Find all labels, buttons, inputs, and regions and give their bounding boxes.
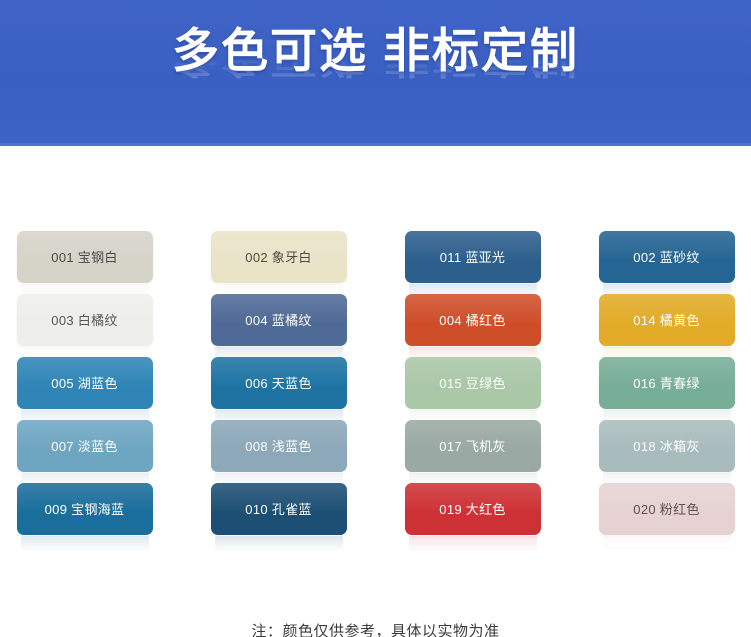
swatch-cell: 008 浅蓝色 (211, 420, 347, 472)
swatch-cell: 016 青春绿 (599, 357, 735, 409)
color-swatch-016-青春绿[interactable]: 016 青春绿 (599, 357, 735, 409)
swatch-cell: 019 大红色 (405, 483, 541, 535)
swatch-label: 016 青春绿 (633, 377, 699, 390)
swatch-cell: 015 豆绿色 (405, 357, 541, 409)
swatch-reflection (21, 536, 149, 552)
swatch-label: 020 粉红色 (633, 503, 699, 516)
swatch-cell: 020 粉红色 (599, 483, 735, 535)
color-swatch-grid: 001 宝钢白002 象牙白011 蓝亚光002 蓝砂纹003 白橘纹004 蓝… (0, 231, 751, 535)
swatch-cell: 011 蓝亚光 (405, 231, 541, 283)
color-swatch-019-大红色[interactable]: 019 大红色 (405, 483, 541, 535)
swatch-cell: 006 天蓝色 (211, 357, 347, 409)
swatch-label: 006 天蓝色 (245, 377, 311, 390)
swatch-label: 004 蓝橘纹 (245, 314, 311, 327)
color-swatch-004-橘红色[interactable]: 004 橘红色 (405, 294, 541, 346)
footer-note: 注：颜色仅供参考，具体以实物为准 (0, 620, 751, 637)
swatch-cell: 004 蓝橘纹 (211, 294, 347, 346)
header-banner: 多色可选 非标定制 多色可选 非标定制 (0, 0, 751, 146)
swatch-reflection (215, 536, 343, 552)
color-swatch-001-宝钢白[interactable]: 001 宝钢白 (17, 231, 153, 283)
swatch-label: 014 橘黄色 (633, 314, 699, 327)
color-swatch-003-白橘纹[interactable]: 003 白橘纹 (17, 294, 153, 346)
color-swatch-008-浅蓝色[interactable]: 008 浅蓝色 (211, 420, 347, 472)
color-swatch-014-橘黄色[interactable]: 014 橘黄色 (599, 294, 735, 346)
color-swatch-015-豆绿色[interactable]: 015 豆绿色 (405, 357, 541, 409)
color-swatch-018-冰箱灰[interactable]: 018 冰箱灰 (599, 420, 735, 472)
color-swatch-005-湖蓝色[interactable]: 005 湖蓝色 (17, 357, 153, 409)
swatch-cell: 017 飞机灰 (405, 420, 541, 472)
color-swatch-006-天蓝色[interactable]: 006 天蓝色 (211, 357, 347, 409)
swatch-label: 010 孔雀蓝 (245, 503, 311, 516)
swatch-label: 019 大红色 (439, 503, 505, 516)
swatch-label: 009 宝钢海蓝 (45, 503, 125, 516)
color-swatch-002-象牙白[interactable]: 002 象牙白 (211, 231, 347, 283)
color-swatch-009-宝钢海蓝[interactable]: 009 宝钢海蓝 (17, 483, 153, 535)
swatch-label: 002 象牙白 (245, 251, 311, 264)
swatch-cell: 018 冰箱灰 (599, 420, 735, 472)
swatch-label: 003 白橘纹 (51, 314, 117, 327)
color-options-page: 多色可选 非标定制 多色可选 非标定制 001 宝钢白002 象牙白011 蓝亚… (0, 0, 751, 637)
swatch-cell: 003 白橘纹 (17, 294, 153, 346)
color-swatch-020-粉红色[interactable]: 020 粉红色 (599, 483, 735, 535)
page-title: 多色可选 非标定制 (172, 26, 579, 77)
color-swatch-002-蓝砂纹[interactable]: 002 蓝砂纹 (599, 231, 735, 283)
swatch-cell: 001 宝钢白 (17, 231, 153, 283)
swatch-cell: 007 淡蓝色 (17, 420, 153, 472)
swatch-reflection (409, 536, 537, 552)
swatch-label: 007 淡蓝色 (51, 440, 117, 453)
swatch-label: 005 湖蓝色 (51, 377, 117, 390)
swatch-cell: 014 橘黄色 (599, 294, 735, 346)
swatch-label: 008 浅蓝色 (245, 440, 311, 453)
swatch-cell: 002 象牙白 (211, 231, 347, 283)
color-swatch-004-蓝橘纹[interactable]: 004 蓝橘纹 (211, 294, 347, 346)
swatch-label: 004 橘红色 (439, 314, 505, 327)
banner-title-block: 多色可选 非标定制 多色可选 非标定制 (0, 26, 751, 130)
swatch-label: 001 宝钢白 (51, 251, 117, 264)
swatch-label: 002 蓝砂纹 (633, 251, 699, 264)
swatch-cell: 009 宝钢海蓝 (17, 483, 153, 535)
swatch-label: 017 飞机灰 (439, 440, 505, 453)
swatch-cell: 004 橘红色 (405, 294, 541, 346)
color-swatch-010-孔雀蓝[interactable]: 010 孔雀蓝 (211, 483, 347, 535)
swatch-label: 018 冰箱灰 (633, 440, 699, 453)
swatch-cell: 005 湖蓝色 (17, 357, 153, 409)
color-swatch-section: 001 宝钢白002 象牙白011 蓝亚光002 蓝砂纹003 白橘纹004 蓝… (0, 146, 751, 535)
color-swatch-011-蓝亚光[interactable]: 011 蓝亚光 (405, 231, 541, 283)
swatch-cell: 010 孔雀蓝 (211, 483, 347, 535)
color-swatch-007-淡蓝色[interactable]: 007 淡蓝色 (17, 420, 153, 472)
swatch-cell: 002 蓝砂纹 (599, 231, 735, 283)
swatch-reflection (603, 536, 731, 552)
swatch-label: 011 蓝亚光 (440, 251, 505, 264)
color-swatch-017-飞机灰[interactable]: 017 飞机灰 (405, 420, 541, 472)
swatch-label: 015 豆绿色 (439, 377, 505, 390)
